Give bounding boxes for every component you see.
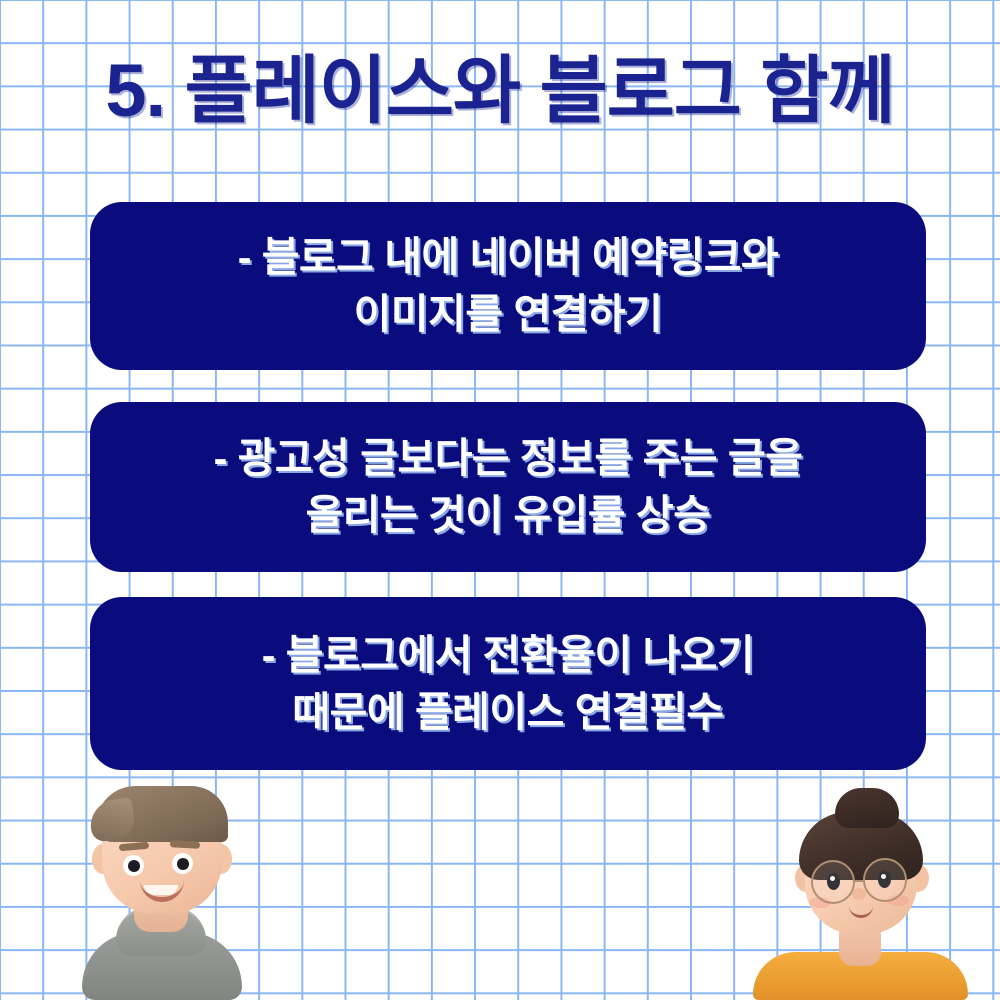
info-card-1[interactable]: - 블로그 내에 네이버 예약링크와 이미지를 연결하기 xyxy=(90,202,926,370)
page-title: 5. 플레이스와 블로그 함께 xyxy=(0,46,1000,136)
info-card-2-line-1: - 광고성 글보다는 정보를 주는 글을 xyxy=(108,430,908,487)
male-eye-left xyxy=(123,855,144,876)
female-glasses-lens-left xyxy=(811,860,855,904)
info-card-2-text: - 광고성 글보다는 정보를 주는 글을 올리는 것이 유입률 상승 xyxy=(90,430,926,544)
info-card-1-line-1: - 블로그 내에 네이버 예약링크와 xyxy=(108,229,908,286)
male-eyebrow-right xyxy=(170,840,200,849)
male-eye-right xyxy=(172,853,193,874)
info-card-3[interactable]: - 블로그에서 전환율이 나오기 때문에 플레이스 연결필수 xyxy=(90,597,926,770)
female-character-illustration xyxy=(735,785,990,1000)
info-card-3-line-2: 때문에 플레이스 연결필수 xyxy=(108,684,908,741)
female-glasses-lens-right xyxy=(863,858,907,902)
slide-canvas: 5. 플레이스와 블로그 함께 - 블로그 내에 네이버 예약링크와 이미지를 … xyxy=(0,0,1000,1000)
female-glasses-bridge xyxy=(853,880,865,883)
male-character-illustration xyxy=(40,785,280,1000)
info-card-2[interactable]: - 광고성 글보다는 정보를 주는 글을 올리는 것이 유입률 상승 xyxy=(90,402,926,572)
info-card-1-line-2: 이미지를 연결하기 xyxy=(108,286,908,343)
info-card-3-line-1: - 블로그에서 전환율이 나오기 xyxy=(108,627,908,684)
info-card-3-text: - 블로그에서 전환율이 나오기 때문에 플레이스 연결필수 xyxy=(90,627,926,741)
female-nose xyxy=(852,888,866,900)
info-card-1-text: - 블로그 내에 네이버 예약링크와 이미지를 연결하기 xyxy=(90,229,926,343)
info-card-2-line-2: 올리는 것이 유입률 상승 xyxy=(108,487,908,544)
female-hair-bun xyxy=(835,788,899,828)
